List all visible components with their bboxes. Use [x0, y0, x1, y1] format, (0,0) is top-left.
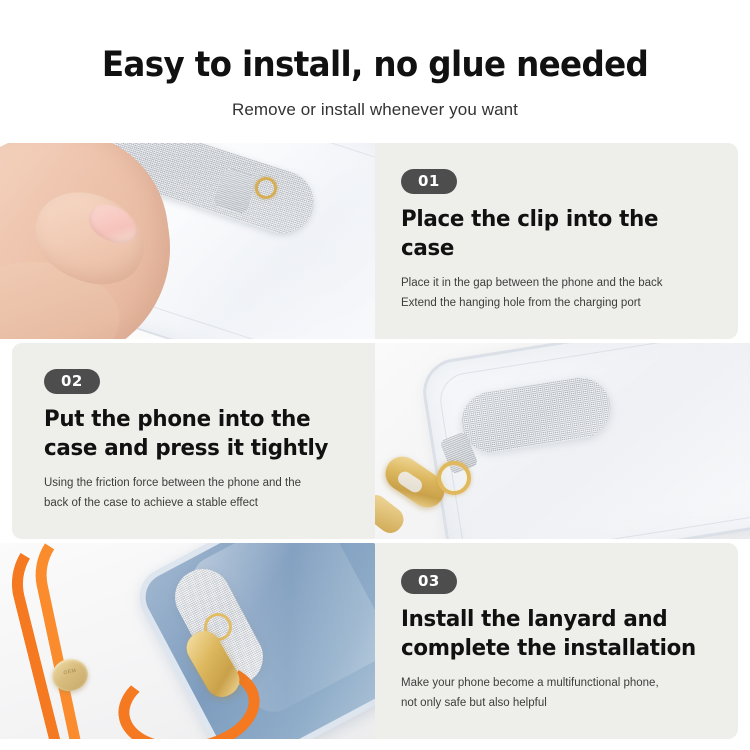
step-2-panel: 02 Put the phone into the case and press…: [12, 343, 375, 539]
step-row-1: 01 Place the clip into the case Place it…: [0, 143, 750, 339]
step-3-badge: 03: [401, 569, 457, 594]
step-2-description: Using the friction force between the pho…: [44, 473, 364, 513]
page-header: Easy to install, no glue needed Remove o…: [0, 0, 750, 122]
gold-ring-icon: [437, 461, 471, 495]
step-1-badge: 01: [401, 169, 457, 194]
step-3-panel: 03 Install the lanyard and complete the …: [375, 543, 738, 739]
page-title: Easy to install, no glue needed: [26, 44, 724, 86]
step-1-photo: [0, 143, 375, 339]
step-1-description-line-2: Extend the hanging hole from the chargin…: [401, 293, 721, 313]
step-1-description: Place it in the gap between the phone an…: [401, 273, 721, 313]
step-2-text: 02 Put the phone into the case and press…: [0, 343, 375, 539]
step-2-title: Put the phone into the case and press it…: [44, 405, 354, 463]
steps-list: 01 Place the clip into the case Place it…: [0, 143, 750, 739]
step-3-description-line-1: Make your phone become a multifunctional…: [401, 673, 721, 693]
step-3-description-line-2: not only safe but also helpful: [401, 693, 721, 713]
step-row-3: OEM 03 Install the lanyard and complete …: [0, 543, 750, 739]
photo-case-with-clasp: [375, 343, 750, 539]
step-row-2: 02 Put the phone into the case and press…: [0, 343, 750, 539]
step-2-description-line-2: back of the case to achieve a stable eff…: [44, 493, 364, 513]
step-2-description-line-1: Using the friction force between the pho…: [44, 473, 364, 493]
step-2-photo: [375, 343, 750, 539]
step-1-panel: 01 Place the clip into the case Place it…: [375, 143, 738, 339]
step-1-text: 01 Place the clip into the case Place it…: [375, 143, 750, 339]
step-3-title: Install the lanyard and complete the ins…: [401, 605, 711, 663]
step-3-description: Make your phone become a multifunctional…: [401, 673, 721, 713]
page-subtitle: Remove or install whenever you want: [0, 98, 750, 122]
photo-hand-holding-clip: [0, 143, 375, 339]
step-1-description-line-1: Place it in the gap between the phone an…: [401, 273, 721, 293]
step-1-title: Place the clip into the case: [401, 205, 711, 263]
gold-clasp-tail: [375, 490, 408, 538]
step-3-photo: OEM: [0, 543, 375, 739]
step-2-badge: 02: [44, 369, 100, 394]
step-3-text: 03 Install the lanyard and complete the …: [375, 543, 750, 739]
photo-lanyard-attached: OEM: [0, 543, 375, 739]
